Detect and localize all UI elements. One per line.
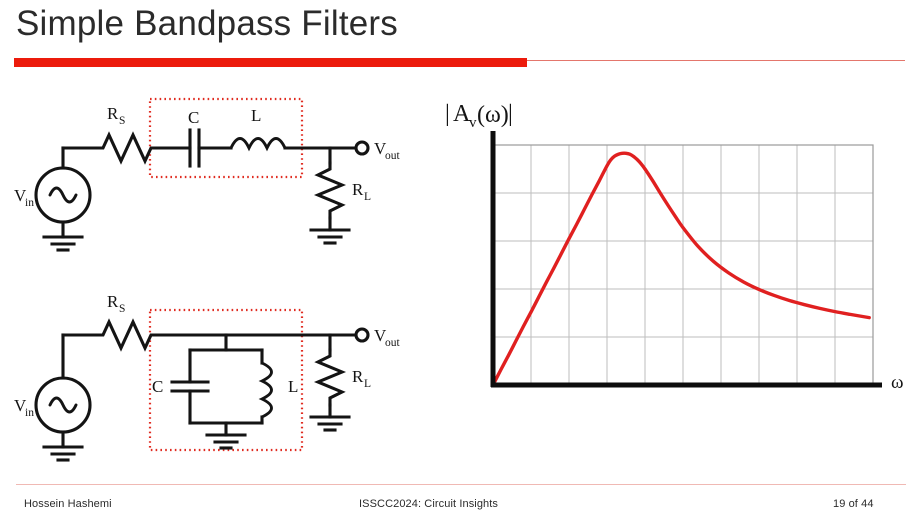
label-vout-sub: out — [385, 150, 401, 162]
resistor-rl — [318, 350, 342, 405]
label-vout-sub: out — [385, 337, 401, 349]
label-rl-sub: L — [364, 378, 371, 390]
label-rs: R — [107, 104, 119, 123]
label-vin-sub: in — [25, 407, 34, 419]
footer-divider — [16, 484, 906, 485]
ac-source-symbol — [36, 378, 90, 432]
svg-text:v: v — [469, 115, 477, 131]
footer-author: Hossein Hashemi — [24, 497, 112, 511]
ground-symbol-source — [44, 447, 82, 460]
chart-series-line — [493, 153, 869, 385]
inductor-l — [262, 363, 272, 417]
ground-symbol-tank — [207, 435, 245, 448]
inductor-l — [231, 139, 285, 149]
label-l: L — [288, 377, 298, 396]
label-l: L — [251, 106, 261, 125]
resistor-rl — [318, 163, 342, 218]
footer-page-number: 19 of 44 — [833, 497, 874, 511]
title-thin-rule — [527, 60, 905, 61]
circuit-diagram-series-lc: R S C L R L V out V in — [0, 85, 440, 260]
chart-grid — [493, 145, 873, 385]
circuit-diagram-parallel-lc: R S C L R L V out V in — [0, 295, 440, 470]
label-vin-sub: in — [25, 197, 34, 209]
label-c: C — [188, 108, 199, 127]
resistor-rs — [98, 135, 158, 161]
chart-y-axis-label: | A v (ω) | — [445, 101, 513, 131]
bandpass-response-chart: | A v (ω) | ω — [435, 88, 915, 403]
label-rs-sub: S — [119, 115, 125, 127]
ac-source-symbol — [36, 168, 90, 222]
label-c: C — [152, 377, 163, 396]
chart-x-axis-label: ω — [891, 372, 904, 393]
footer-event: ISSCC2024: Circuit Insights — [359, 497, 498, 511]
label-rs-sub: S — [119, 303, 125, 315]
output-terminal-node — [356, 142, 368, 154]
ground-symbol-source — [44, 237, 82, 250]
label-rs: R — [107, 295, 119, 311]
svg-text:|: | — [508, 101, 513, 127]
label-rl: R — [352, 180, 364, 199]
slide-canvas: Simple Bandpass Filters — [0, 0, 922, 521]
svg-text:|: | — [445, 101, 450, 127]
resistor-rs — [98, 322, 158, 348]
ground-symbol-load — [311, 230, 349, 243]
title-accent-bar — [14, 58, 527, 67]
svg-text:(ω): (ω) — [477, 102, 509, 128]
ground-symbol-load — [311, 417, 349, 430]
label-rl: R — [352, 367, 364, 386]
output-terminal-node — [356, 329, 368, 341]
label-rl-sub: L — [364, 191, 371, 203]
page-title: Simple Bandpass Filters — [16, 2, 398, 46]
